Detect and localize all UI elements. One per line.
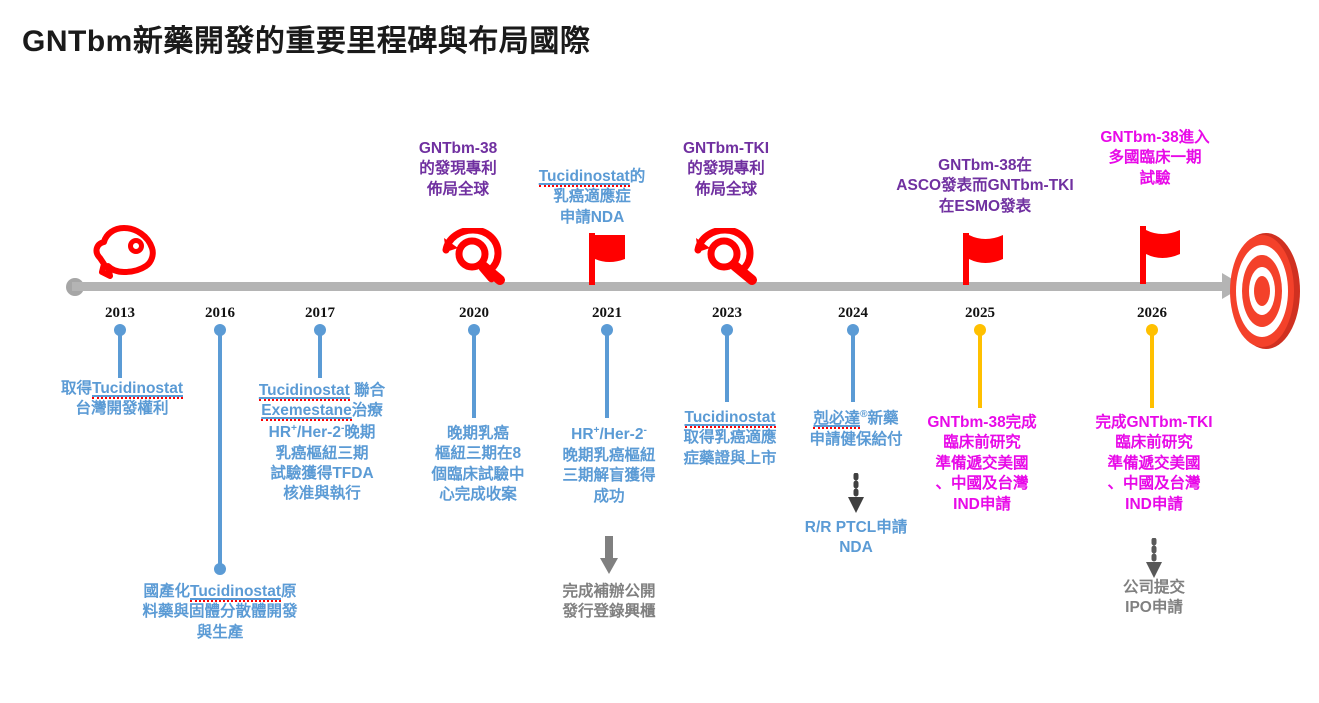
- stem-dot-2025: [974, 324, 986, 336]
- stem-dot-2017: [314, 324, 326, 336]
- stem-dot-2023: [721, 324, 733, 336]
- flag-icon: [963, 233, 1007, 285]
- milestone-below-2016: 國產化Tucidinostat原料藥與固體分散體開發與生產: [114, 582, 326, 643]
- flag-icon: [1140, 226, 1184, 284]
- stem-dot-2013: [114, 324, 126, 336]
- year-label-2023: 2023: [712, 305, 742, 322]
- stem-dot-2016: [214, 324, 226, 336]
- year-label-2020: 2020: [459, 305, 489, 322]
- year-label-2024: 2024: [838, 305, 868, 322]
- stem-2016: [218, 330, 222, 570]
- milestone-below-2021: HR+/Her-2-晚期乳癌樞紐三期解盲獲得成功: [542, 424, 676, 507]
- milestone-below-2023: Tucidinostat取得乳癌適應症藥證與上市: [662, 408, 798, 469]
- milestone-above-2026: GNTbm-38進入多國臨床一期試驗: [1060, 128, 1250, 189]
- year-label-2021: 2021: [592, 305, 622, 322]
- year-label-2025: 2025: [965, 305, 995, 322]
- year-label-2013: 2013: [105, 305, 135, 322]
- followup-below-2026: 公司提交IPO申請: [1079, 578, 1229, 619]
- target-bullseye-icon: [1222, 232, 1302, 350]
- stem-2021: [605, 330, 609, 418]
- timeline-infographic: GNTbm新藥開發的重要里程碑與布局國際 2013 2016 2017 2020…: [0, 0, 1319, 703]
- milestone-below-2026: 完成GNTbm-TKI臨床前研究準備遞交美國、中國及台灣IND申請: [1074, 413, 1234, 515]
- solid-down-arrow: [598, 536, 620, 581]
- stem-end-dot-2016: [214, 563, 226, 575]
- followup-below-2021: 完成補辦公開發行登錄興櫃: [534, 582, 684, 623]
- stem-2026: [1150, 330, 1154, 408]
- stem-2017: [318, 330, 322, 378]
- milestone-below-2017: Tucidinostat 聯合Exemestane治療HR+/Her-2-晚期乳…: [234, 381, 410, 505]
- timeline-axis: [72, 282, 1240, 291]
- rocket-icon: [90, 222, 158, 284]
- milestone-below-2024: 剋必達®新藥申請健保給付: [789, 408, 923, 450]
- stem-2025: [978, 330, 982, 408]
- year-label-2016: 2016: [205, 305, 235, 322]
- flag-icon: [589, 233, 629, 285]
- dotted-down-arrow: [845, 473, 867, 522]
- year-label-2017: 2017: [305, 305, 335, 322]
- stem-2013: [118, 330, 122, 378]
- stem-dot-2020: [468, 324, 480, 336]
- milestone-below-2013: 取得Tucidinostat台灣開發權利: [34, 379, 210, 420]
- milestone-below-2020: 晚期乳癌樞紐三期在8個臨床試驗中心完成收案: [413, 424, 543, 506]
- stem-2024: [851, 330, 855, 402]
- stem-2023: [725, 330, 729, 402]
- milestone-above-2023: GNTbm-TKI的發現專利佈局全球: [636, 139, 816, 200]
- stem-2020: [472, 330, 476, 418]
- milestone-below-2025: GNTbm-38完成臨床前研究準備遞交美國、中國及台灣IND申請: [907, 413, 1057, 515]
- magnifier-search-icon: [442, 228, 508, 286]
- magnifier-search-icon: [694, 228, 760, 286]
- year-label-2026: 2026: [1137, 305, 1167, 322]
- followup-below-2024: R/R PTCL申請NDA: [786, 518, 926, 559]
- stem-dot-2021: [601, 324, 613, 336]
- stem-dot-2026: [1146, 324, 1158, 336]
- page-title: GNTbm新藥開發的重要里程碑與布局國際: [22, 16, 590, 60]
- stem-dot-2024: [847, 324, 859, 336]
